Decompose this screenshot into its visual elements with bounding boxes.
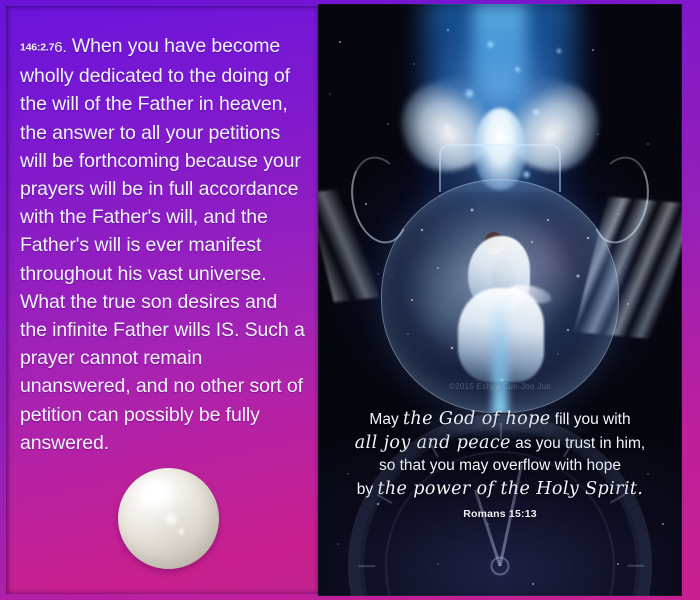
quote-block: 146:2.76. When you have become wholly de… (20, 32, 308, 457)
artwork-panel: ©2015 Eshya Eun-Joo Jun May the God of h… (318, 4, 682, 596)
pearl-highlight-secondary (162, 512, 179, 525)
quote-text: When you have become wholly dedicated to… (20, 35, 305, 454)
pearl-graphic (118, 468, 219, 569)
text-panel: 146:2.76. When you have become wholly de… (6, 6, 318, 594)
quote-paragraph-number: 6. (54, 39, 66, 56)
starfield-layer-3 (318, 4, 682, 596)
pearl-highlight-primary (138, 481, 178, 513)
pearl-highlight-tertiary (177, 527, 186, 536)
quote-card: 146:2.76. When you have become wholly de… (0, 0, 700, 600)
quote-reference: 146:2.7 (20, 42, 54, 54)
